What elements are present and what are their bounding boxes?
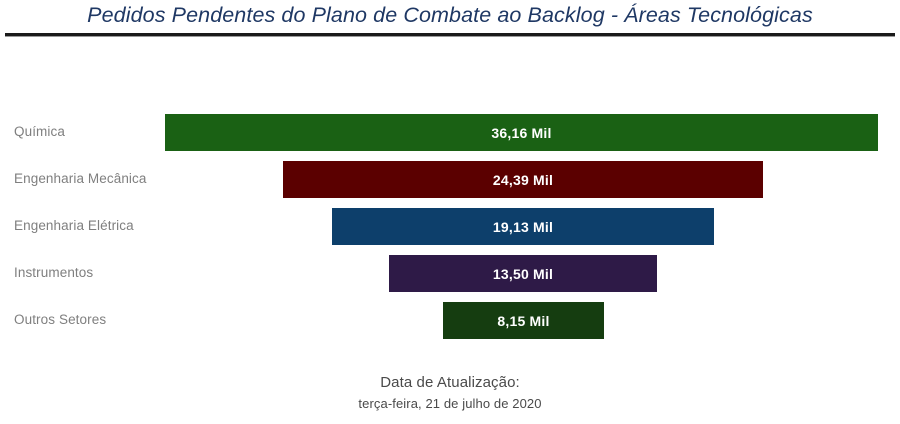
category-label-engenharia-mecanica: Engenharia Mecânica xyxy=(14,159,146,199)
bar-value-label: 8,15 Mil xyxy=(497,313,549,329)
page-title: Pedidos Pendentes do Plano de Combate ao… xyxy=(87,0,813,30)
bar-value-label: 24,39 Mil xyxy=(493,172,553,188)
funnel-bar-engenharia-mecanica[interactable]: 24,39 Mil xyxy=(283,161,763,198)
bar-value-label: 36,16 Mil xyxy=(491,125,551,141)
funnel-row: Instrumentos 13,50 Mil xyxy=(0,253,900,293)
title-divider xyxy=(5,33,895,37)
funnel-chart-container: Pedidos Pendentes do Plano de Combate ao… xyxy=(0,0,900,424)
funnel-row: Química 36,16 Mil xyxy=(0,112,900,152)
category-label-quimica: Química xyxy=(14,112,65,152)
funnel-bar-engenharia-eletrica[interactable]: 19,13 Mil xyxy=(332,208,714,245)
funnel-row: Outros Setores 8,15 Mil xyxy=(0,300,900,340)
category-label-instrumentos: Instrumentos xyxy=(14,253,93,293)
update-date-value: terça-feira, 21 de julho de 2020 xyxy=(0,394,900,414)
bar-value-label: 13,50 Mil xyxy=(493,266,553,282)
funnel-bar-quimica[interactable]: 36,16 Mil xyxy=(165,114,878,151)
funnel-bar-instrumentos[interactable]: 13,50 Mil xyxy=(389,255,657,292)
category-label-engenharia-eletrica: Engenharia Elétrica xyxy=(14,206,134,246)
funnel-row: Engenharia Mecânica 24,39 Mil xyxy=(0,159,900,199)
category-label-outros-setores: Outros Setores xyxy=(14,300,106,340)
funnel-bar-outros-setores[interactable]: 8,15 Mil xyxy=(443,302,604,339)
update-date-label: Data de Atualização: xyxy=(0,372,900,394)
chart-footer: Data de Atualização: terça-feira, 21 de … xyxy=(0,372,900,414)
bar-value-label: 19,13 Mil xyxy=(493,219,553,235)
funnel-row: Engenharia Elétrica 19,13 Mil xyxy=(0,206,900,246)
chart-header: Pedidos Pendentes do Plano de Combate ao… xyxy=(0,0,900,30)
chart-plot-area: Química 36,16 Mil Engenharia Mecânica 24… xyxy=(0,105,900,353)
